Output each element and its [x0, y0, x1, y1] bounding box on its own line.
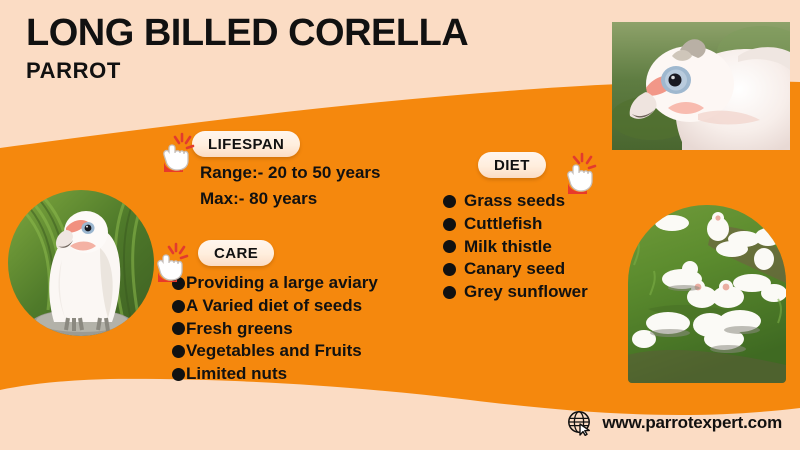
care-item-text: Fresh greens — [186, 318, 293, 341]
list-item: Cuttlefish — [443, 213, 588, 236]
care-item-text: A Varied diet of seeds — [186, 295, 362, 318]
care-label: CARE — [214, 245, 258, 262]
care-pill: CARE — [198, 240, 274, 266]
website-url: www.parrotexpert.com — [602, 413, 782, 433]
list-item: Vegetables and Fruits — [172, 340, 378, 363]
bullet-dot-icon — [443, 263, 456, 276]
footer-website[interactable]: www.parrotexpert.com — [567, 410, 782, 436]
diet-pill: DIET — [478, 152, 546, 178]
lifespan-label: LIFESPAN — [208, 136, 284, 153]
page-title: LONG BILLED CORELLA — [26, 14, 468, 53]
lifespan-range: Range:- 20 to 50 years — [200, 160, 380, 186]
photo-corella-perched — [8, 190, 154, 336]
care-item-text: Vegetables and Fruits — [186, 340, 362, 363]
diet-item-text: Grey sunflower — [464, 281, 588, 304]
click-hand-icon — [156, 128, 200, 172]
list-item: A Varied diet of seeds — [172, 295, 378, 318]
lifespan-values: Range:- 20 to 50 years Max:- 80 years — [200, 160, 380, 212]
photo-corella-flock — [628, 205, 786, 383]
list-item: Limited nuts — [172, 363, 378, 386]
list-item: Fresh greens — [172, 318, 378, 341]
diet-item-text: Cuttlefish — [464, 213, 542, 236]
lifespan-pill: LIFESPAN — [192, 131, 300, 157]
list-item: Milk thistle — [443, 236, 588, 259]
bullet-dot-icon — [172, 368, 185, 381]
diet-item-text: Milk thistle — [464, 236, 552, 259]
lifespan-max: Max:- 80 years — [200, 186, 380, 212]
bullet-dot-icon — [172, 300, 185, 313]
diet-label: DIET — [494, 157, 530, 174]
globe-cursor-icon — [567, 410, 593, 436]
diet-item-text: Grass seeds — [464, 190, 565, 213]
click-hand-icon — [150, 238, 194, 282]
bullet-dot-icon — [172, 345, 185, 358]
bullet-dot-icon — [443, 218, 456, 231]
diet-item-list: Grass seeds Cuttlefish Milk thistle Cana… — [443, 190, 588, 304]
infographic-poster: LONG BILLED CORELLA PARROT — [0, 0, 800, 450]
page-subtitle: PARROT — [26, 58, 468, 84]
header-block: LONG BILLED CORELLA PARROT — [26, 14, 468, 84]
click-hand-icon — [558, 150, 602, 194]
list-item: Canary seed — [443, 258, 588, 281]
bullet-dot-icon — [443, 240, 456, 253]
care-item-text: Providing a large aviary — [186, 272, 378, 295]
bullet-dot-icon — [443, 195, 456, 208]
list-item: Providing a large aviary — [172, 272, 378, 295]
bullet-dot-icon — [172, 322, 185, 335]
bullet-dot-icon — [443, 286, 456, 299]
diet-item-text: Canary seed — [464, 258, 565, 281]
photo-corella-head — [612, 22, 790, 150]
care-item-list: Providing a large aviary A Varied diet o… — [172, 272, 378, 386]
list-item: Grey sunflower — [443, 281, 588, 304]
care-item-text: Limited nuts — [186, 363, 287, 386]
